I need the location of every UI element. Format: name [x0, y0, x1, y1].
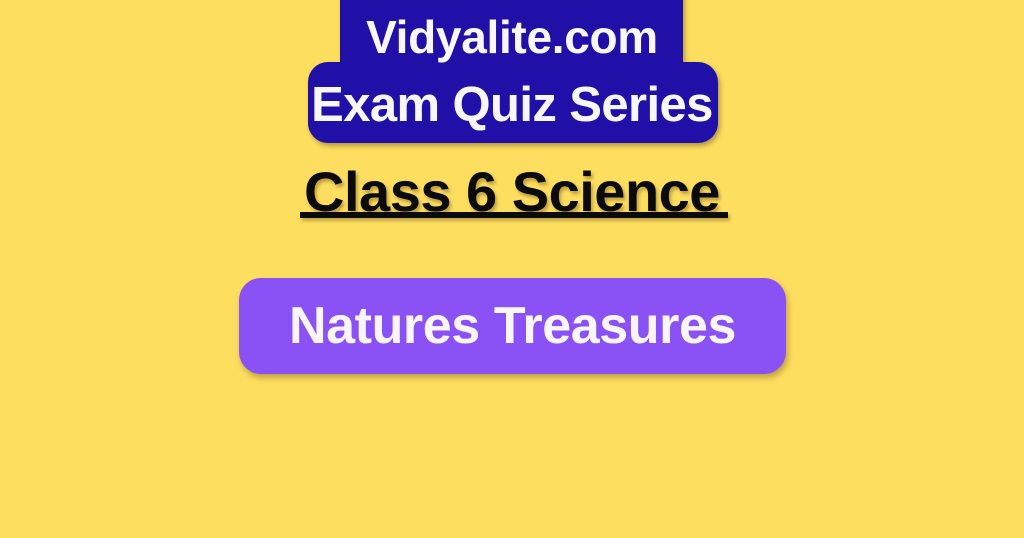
quiz-poster: Vidyalite.com Exam Quiz Series Class 6 S… [0, 0, 1024, 538]
brand-badge-plate-top [340, 0, 683, 82]
subject-title-underline [300, 212, 728, 218]
chapter-pill: Natures Treasures [239, 278, 786, 374]
brand-badge-plate-seam [342, 52, 681, 82]
brand-badge-text: Vidyalite.com Exam Quiz Series [0, 0, 1024, 150]
brand-site-name: Vidyalite.com [0, 11, 1024, 63]
brand-badge: Vidyalite.com Exam Quiz Series [0, 0, 1024, 150]
brand-series-name: Exam Quiz Series [0, 78, 1024, 132]
chapter-title: Natures Treasures [289, 298, 736, 354]
brand-badge-plate-bottom [308, 62, 718, 143]
